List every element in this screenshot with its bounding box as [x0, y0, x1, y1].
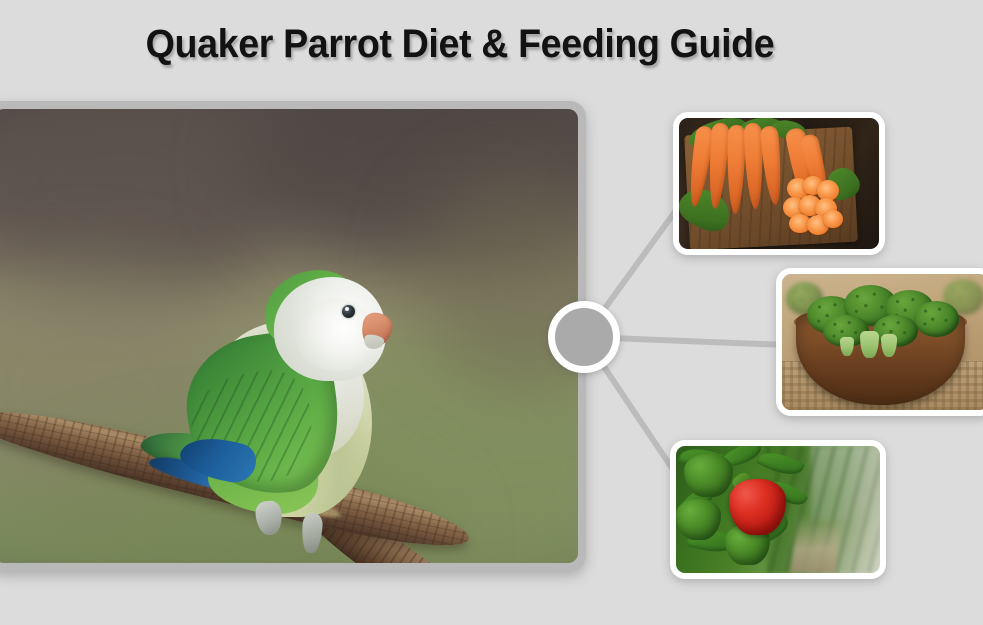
bokeh-blob [244, 109, 578, 269]
parrot-foot [301, 512, 324, 553]
parrot-foot [254, 500, 283, 537]
parrot-eye-glint [345, 307, 349, 311]
thumbnail-broccoli-image [782, 274, 983, 410]
broccoli-floret [914, 301, 959, 336]
thumbnail-carrots[interactable] [673, 112, 885, 255]
carrot-slice [823, 210, 843, 228]
peppers-artwork [676, 446, 880, 573]
greenhouse-path [790, 515, 843, 573]
parrot-figure [146, 269, 416, 544]
hero-photo-frame[interactable] [0, 101, 586, 571]
guide-canvas: Quaker Parrot Diet & Feeding Guide [0, 0, 983, 625]
quaker-parrot-photo [0, 109, 578, 563]
carrots-artwork [679, 118, 879, 249]
pepper-green [676, 499, 721, 540]
thumbnail-peppers[interactable] [670, 440, 886, 579]
broccoli-artwork [782, 274, 983, 410]
thumbnail-carrots-image [679, 118, 879, 249]
thumbnail-peppers-image [676, 446, 880, 573]
pepper-green [684, 454, 733, 497]
thumbnail-broccoli[interactable] [776, 268, 983, 416]
pepper-red [729, 479, 786, 535]
page-title: Quaker Parrot Diet & Feeding Guide [28, 22, 893, 67]
diagram-hub-node[interactable] [548, 301, 620, 373]
